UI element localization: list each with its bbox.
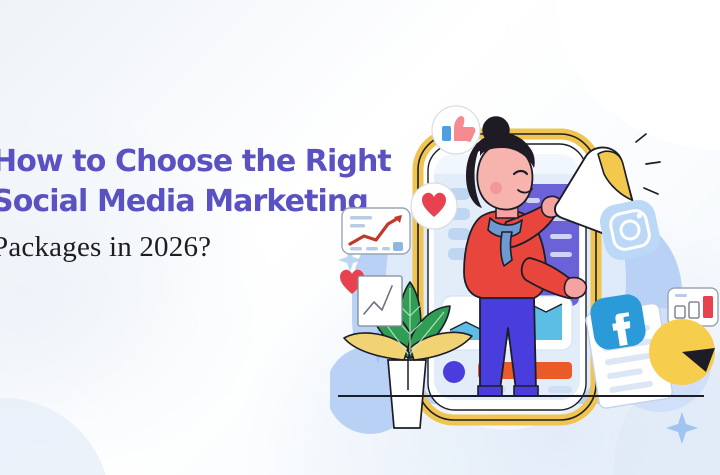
pie-chart-icon	[649, 319, 715, 385]
illustration-stage	[330, 90, 720, 475]
facebook-icon	[588, 292, 647, 351]
background-blob-bottom-left	[0, 398, 110, 475]
headline-line-1: How to Choose the Right	[0, 142, 362, 182]
heart-icon	[411, 183, 457, 229]
headline-line-2: Social Media Marketing	[0, 182, 362, 222]
headline-block: How to Choose the Right Social Media Mar…	[0, 142, 362, 267]
headline-line-3: Packages in 2026?	[0, 227, 362, 267]
line-chart-small-icon	[358, 276, 402, 326]
blog-banner: How to Choose the Right Social Media Mar…	[0, 0, 720, 475]
thumbs-up-icon	[432, 106, 480, 154]
line-chart-card-icon	[342, 208, 410, 254]
